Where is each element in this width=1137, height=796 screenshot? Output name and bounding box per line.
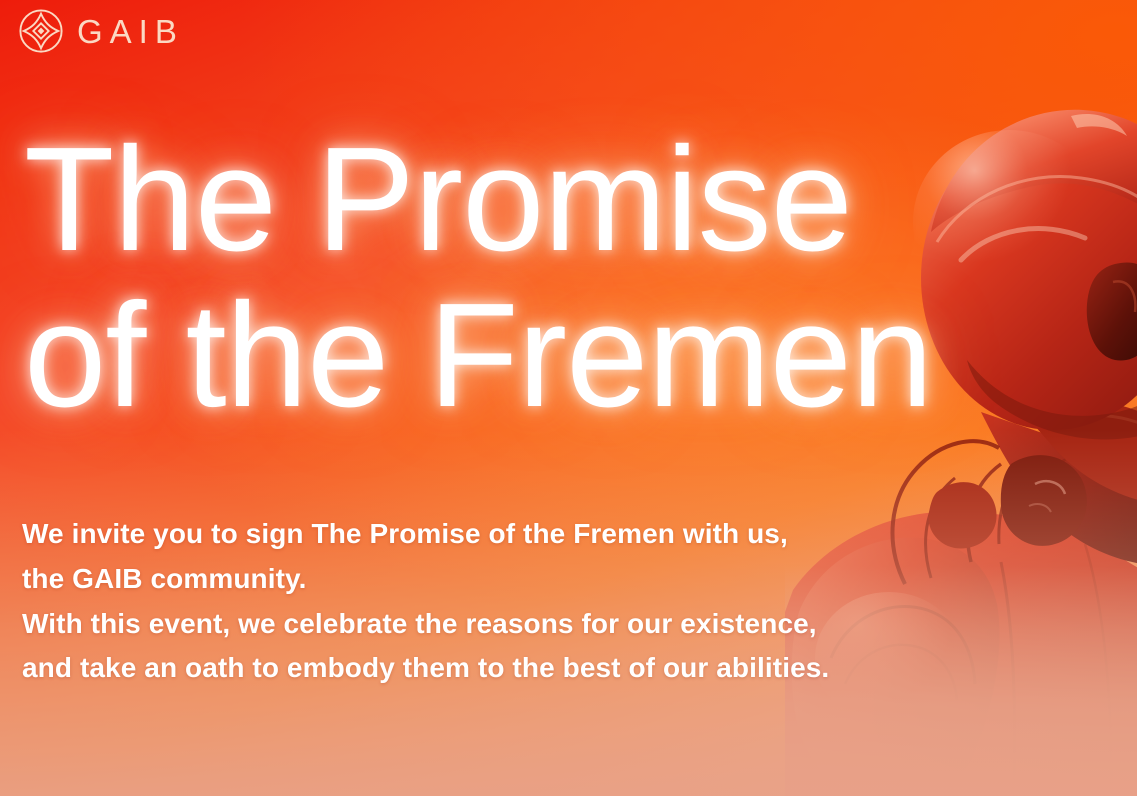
- brand-logo[interactable]: GAIB: [18, 8, 184, 54]
- body-line-1: We invite you to sign The Promise of the…: [22, 512, 902, 557]
- body-line-3: With this event, we celebrate the reason…: [22, 602, 902, 647]
- brand-wordmark: GAIB: [77, 15, 184, 48]
- body-paragraph: We invite you to sign The Promise of the…: [22, 512, 902, 691]
- body-line-2: the GAIB community.: [22, 557, 902, 602]
- headline-line-1: The Promise: [24, 124, 1114, 276]
- gaib-diamond-circle-icon: [18, 8, 64, 54]
- promise-slide: GAIB The Promise of the Fremen We invite…: [0, 0, 1137, 796]
- headline-line-2: of the Fremen: [24, 280, 1114, 432]
- page-title: The Promise of the Fremen: [24, 124, 1114, 433]
- body-line-4: and take an oath to embody them to the b…: [22, 646, 902, 691]
